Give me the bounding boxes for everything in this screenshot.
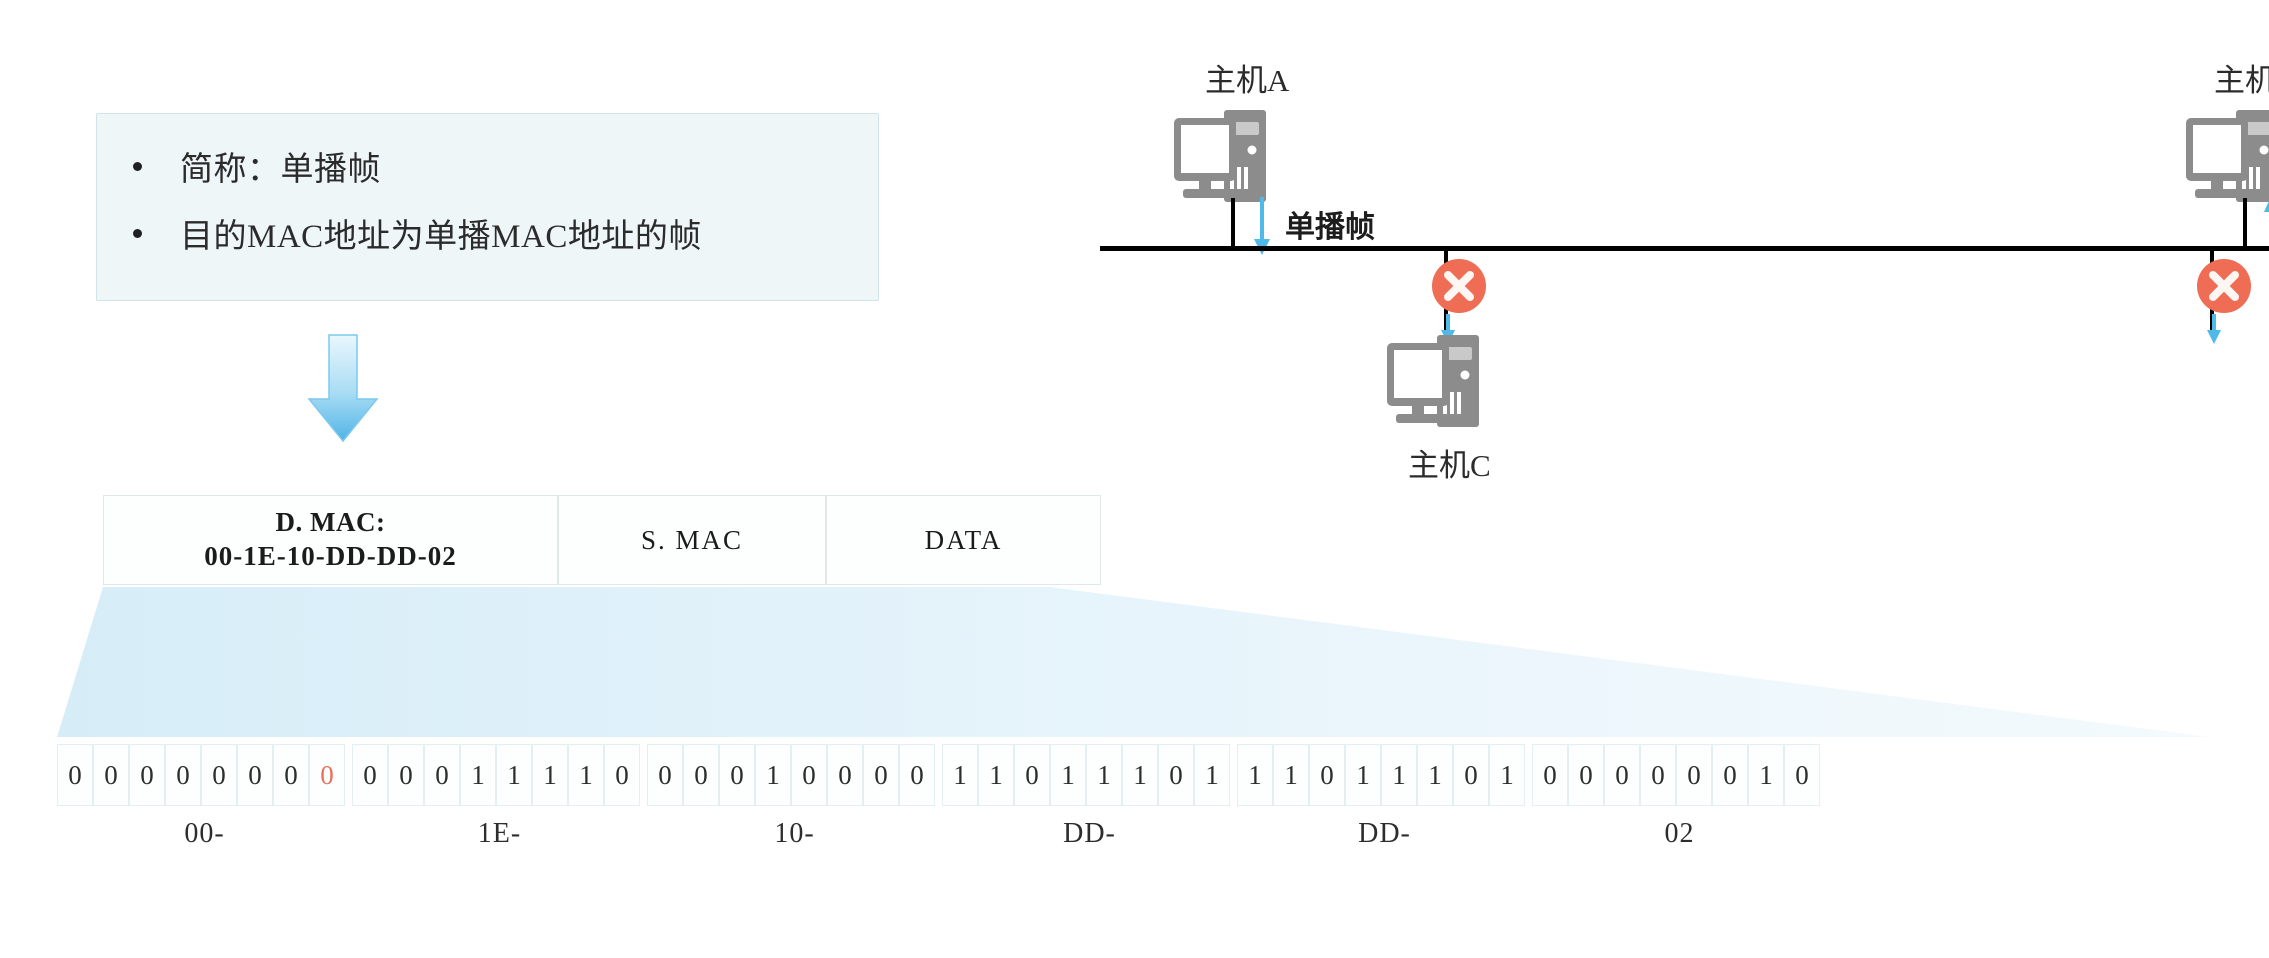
bit-cell: 0: [1784, 744, 1820, 806]
bit-cell: 0: [1532, 744, 1568, 806]
host-label-a: 主机A: [1205, 55, 1289, 100]
frame-cell-smac: S. MAC: [558, 495, 826, 585]
x-circle-icon-host-c: [1429, 256, 1489, 316]
bit-cell: 0: [719, 744, 755, 806]
bit-cell: 0: [791, 744, 827, 806]
bit-cell: 0: [201, 744, 237, 806]
byte-label: 1E-: [352, 818, 647, 858]
bit-cell: 1: [1381, 744, 1417, 806]
mac-bit-strip: 0000000000011110000100001101110111011101…: [57, 744, 1820, 806]
host-label-b: 主机B: [2214, 55, 2269, 100]
arrow-down-icon-blocked-d: [2204, 312, 2224, 346]
byte-label: DD-: [942, 818, 1237, 858]
bit-cell: 1: [1273, 744, 1309, 806]
bit-cell: 0: [1158, 744, 1194, 806]
ethernet-frame-table: D. MAC: 00-1E-10-DD-DD-02 S. MAC DATA: [103, 495, 1101, 585]
byte-label: 02: [1532, 818, 1827, 858]
smac-label: S. MAC: [641, 525, 743, 556]
ethernet-bus: [1100, 246, 2269, 251]
bit-cell: 1: [1748, 744, 1784, 806]
byte-label: DD-: [1237, 818, 1532, 858]
bit-cell: 0: [1453, 744, 1489, 806]
byte-group: 00000000: [57, 744, 345, 806]
frame-tag-unicast: 单播帧: [1285, 202, 1375, 246]
bit-cell: 0: [899, 744, 935, 806]
bit-cell: 0: [827, 744, 863, 806]
bit-cell: 0: [1309, 744, 1345, 806]
bit-cell: 1: [1489, 744, 1525, 806]
bit-cell: 1: [568, 744, 604, 806]
bit-cell: 1: [1050, 744, 1086, 806]
bullet-dot-icon: [133, 162, 142, 171]
bullet-item-1: 简称：单播帧: [133, 142, 381, 190]
link-host-a: [1231, 198, 1235, 250]
bit-cell: 1: [942, 744, 978, 806]
mac-byte-labels: 00-1E-10-DD-DD-02: [57, 818, 1827, 858]
bullet-text-2: 目的MAC地址为单播MAC地址的帧: [180, 209, 702, 257]
down-arrow-icon: [305, 333, 381, 445]
bit-cell: 0: [1676, 744, 1712, 806]
bit-cell: 0: [683, 744, 719, 806]
network-topology-diagram: 主机A 单播帧 主机B: [1100, 50, 2269, 650]
computer-icon-host-b: [2182, 105, 2269, 210]
bit-cell: 1: [978, 744, 1014, 806]
computer-icon-host-c: [1383, 330, 1508, 435]
byte-group: 11011101: [942, 744, 1230, 806]
bit-cell: 0: [424, 744, 460, 806]
dmac-value: 00-1E-10-DD-DD-02: [204, 540, 456, 574]
bullet-item-2: 目的MAC地址为单播MAC地址的帧: [133, 209, 702, 257]
bit-cell: 1: [496, 744, 532, 806]
bit-cell: 1: [755, 744, 791, 806]
bit-cell: 0: [93, 744, 129, 806]
bit-cell: 1: [460, 744, 496, 806]
bullet-text-1: 简称：单播帧: [180, 142, 381, 190]
bit-cell: 1: [1237, 744, 1273, 806]
bit-cell: 0: [1712, 744, 1748, 806]
bit-cell: 0: [273, 744, 309, 806]
data-label: DATA: [925, 525, 1003, 556]
byte-group: 00011110: [352, 744, 640, 806]
bit-cell: 1: [532, 744, 568, 806]
bit-cell: 1: [1122, 744, 1158, 806]
frame-cell-data: DATA: [826, 495, 1101, 585]
bit-cell: 0: [1014, 744, 1050, 806]
bit-cell: 0: [1640, 744, 1676, 806]
byte-group: 00000010: [1532, 744, 1820, 806]
bit-cell: 0: [647, 744, 683, 806]
x-circle-icon-host-d: [2194, 256, 2254, 316]
byte-label: 00-: [57, 818, 352, 858]
description-panel: 简称：单播帧 目的MAC地址为单播MAC地址的帧: [96, 113, 879, 301]
bit-cell: 0: [1568, 744, 1604, 806]
byte-group: 00010000: [647, 744, 935, 806]
bit-cell: 0: [863, 744, 899, 806]
byte-label: 10-: [647, 818, 942, 858]
bit-cell: 0: [352, 744, 388, 806]
byte-group: 11011101: [1237, 744, 1525, 806]
bit-cell: 0: [309, 744, 345, 806]
bit-cell: 0: [57, 744, 93, 806]
computer-icon-host-a: [1170, 105, 1295, 210]
dmac-title: D. MAC:: [276, 506, 386, 540]
bit-cell: 1: [1086, 744, 1122, 806]
bit-cell: 1: [1345, 744, 1381, 806]
bit-cell: 1: [1417, 744, 1453, 806]
bullet-dot-icon: [133, 229, 142, 238]
link-host-b: [2243, 198, 2247, 250]
bit-cell: 1: [1194, 744, 1230, 806]
bit-cell: 0: [388, 744, 424, 806]
bit-cell: 0: [129, 744, 165, 806]
bit-cell: 0: [165, 744, 201, 806]
bit-cell: 0: [604, 744, 640, 806]
host-label-c: 主机C: [1408, 440, 1491, 485]
frame-cell-dmac: D. MAC: 00-1E-10-DD-DD-02: [103, 495, 558, 585]
bit-cell: 0: [237, 744, 273, 806]
bit-cell: 0: [1604, 744, 1640, 806]
